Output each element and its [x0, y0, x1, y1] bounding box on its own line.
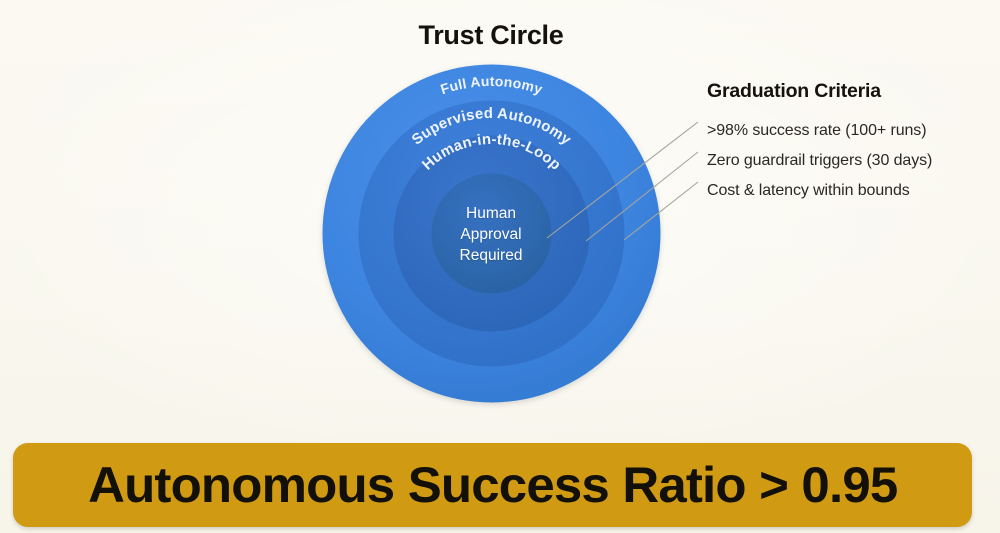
- metric-banner-text: Autonomous Success Ratio > 0.95: [88, 456, 897, 514]
- graduation-criteria-panel: Graduation Criteria >98% success rate (1…: [707, 80, 993, 206]
- page-title: Trust Circle: [0, 20, 982, 51]
- criteria-heading: Graduation Criteria: [707, 80, 993, 103]
- core-label: Human Approval Required: [416, 203, 566, 266]
- core-label-line-2: Approval: [416, 224, 566, 245]
- criteria-item: >98% success rate (100+ runs): [707, 116, 993, 146]
- core-label-line-1: Human: [416, 203, 566, 224]
- metric-banner: Autonomous Success Ratio > 0.95: [13, 443, 972, 527]
- core-label-line-3: Required: [416, 245, 566, 266]
- criteria-item: Cost & latency within bounds: [707, 176, 993, 206]
- slide-canvas: Trust Circle: [0, 0, 1000, 533]
- criteria-item: Zero guardrail triggers (30 days): [707, 146, 993, 176]
